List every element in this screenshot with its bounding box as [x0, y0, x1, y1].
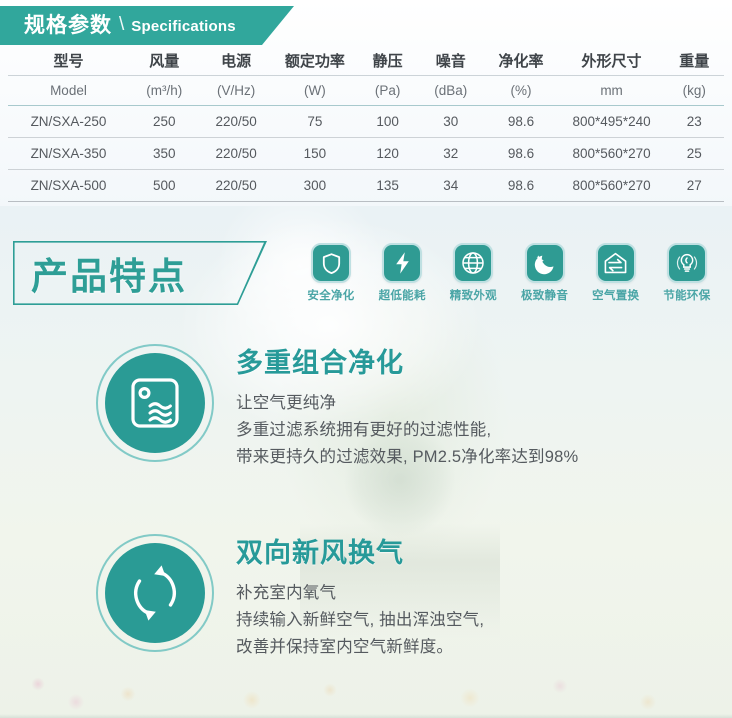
mini-features-strip: 安全净化 超低能耗 精致外观: [302, 243, 716, 305]
cell-purification-rate: 98.6: [483, 138, 558, 170]
cell-rated-power: 150: [273, 138, 357, 170]
feature-line: 补充室内氧气: [236, 580, 484, 607]
cell-dimensions: 800*495*240: [559, 106, 665, 138]
header-unit-5: (dBa): [418, 76, 483, 106]
header-cn-1: 风量: [129, 45, 200, 76]
table-row: ZN/SXA-250 250 220/50 75 100 30 98.6 800…: [8, 106, 724, 138]
specifications-table: 型号 风量 电源 额定功率 静压 噪音 净化率 外形尺寸 重量 Model (m…: [8, 45, 724, 202]
feature-icon-wrap: [96, 534, 214, 652]
mini-feature-energy-saving[interactable]: 节能环保: [658, 243, 716, 305]
cell-dimensions: 800*560*270: [559, 138, 665, 170]
feature-line: 带来更持久的过滤效果, PM2.5净化率达到98%: [236, 444, 578, 471]
cell-noise: 30: [418, 106, 483, 138]
table-row: ZN/SXA-350 350 220/50 150 120 32 98.6 80…: [8, 138, 724, 170]
house-exchange-icon: [596, 243, 636, 283]
cell-weight: 23: [664, 106, 724, 138]
product-features-heading: 产品特点: [13, 241, 267, 305]
cell-model: ZN/SXA-350: [8, 138, 129, 170]
feature-line: 让空气更纯净: [236, 390, 578, 417]
circular-exchange-arrows-icon: [105, 543, 205, 643]
specifications-banner: 规格参数 \ Specifications: [0, 6, 294, 45]
mini-feature-safe-purification[interactable]: 安全净化: [302, 243, 360, 305]
feature-line: 改善并保持室内空气新鲜度。: [236, 634, 484, 661]
moon-stars-icon: [525, 243, 565, 283]
header-unit-7: mm: [559, 76, 665, 106]
header-cn-8: 重量: [664, 45, 724, 76]
cell-power: 220/50: [200, 138, 273, 170]
mini-feature-label: 节能环保: [663, 287, 710, 303]
cell-weight: 25: [664, 138, 724, 170]
header-unit-4: (Pa): [357, 76, 418, 106]
cell-rated-power: 75: [273, 106, 357, 138]
cell-power: 220/50: [200, 170, 273, 202]
mini-feature-label: 极致静音: [521, 287, 568, 303]
lightbulb-icon: [667, 243, 707, 283]
mini-feature-ultra-quiet[interactable]: 极致静音: [516, 243, 574, 305]
table-row: ZN/SXA-500 500 220/50 300 135 34 98.6 80…: [8, 170, 724, 202]
header-cn-0: 型号: [8, 45, 129, 76]
feature-title: 多重组合净化: [236, 348, 578, 378]
header-cn-4: 静压: [357, 45, 418, 76]
feature-description: 让空气更纯净 多重过滤系统拥有更好的过滤性能, 带来更持久的过滤效果, PM2.…: [236, 390, 578, 470]
product-spec-page: 规格参数 \ Specifications 型号 风量 电源 额定功率 静压 噪…: [0, 0, 732, 718]
cell-airflow: 500: [129, 170, 200, 202]
header-cn-3: 额定功率: [273, 45, 357, 76]
header-unit-0: Model: [8, 76, 129, 106]
header-unit-6: (%): [483, 76, 558, 106]
header-unit-8: (kg): [664, 76, 724, 106]
globe-icon: [453, 243, 493, 283]
cell-weight: 27: [664, 170, 724, 202]
cell-static-pressure: 135: [357, 170, 418, 202]
cell-static-pressure: 120: [357, 138, 418, 170]
cell-purification-rate: 98.6: [483, 170, 558, 202]
table-header-row-units: Model (m³/h) (V/Hz) (W) (Pa) (dBa) (%) m…: [8, 76, 724, 106]
header-unit-2: (V/Hz): [200, 76, 273, 106]
header-unit-3: (W): [273, 76, 357, 106]
cell-model: ZN/SXA-250: [8, 106, 129, 138]
banner-labels: 规格参数 \ Specifications: [24, 6, 236, 45]
header-cn-6: 净化率: [483, 45, 558, 76]
feature-text: 双向新风换气 补充室内氧气 持续输入新鲜空气, 抽出浑浊空气, 改善并保持室内空…: [236, 534, 484, 660]
product-features-title: 产品特点: [31, 241, 187, 305]
mini-feature-label: 空气置换: [592, 287, 639, 303]
feature-block-bidirectional-ventilation: 双向新风换气 补充室内氧气 持续输入新鲜空气, 抽出浑浊空气, 改善并保持室内空…: [96, 534, 484, 660]
shield-icon: [311, 243, 351, 283]
banner-title-cn: 规格参数: [24, 15, 112, 36]
page-bottom-edge: [0, 714, 732, 718]
feature-line: 多重过滤系统拥有更好的过滤性能,: [236, 417, 578, 444]
feature-line: 持续输入新鲜空气, 抽出浑浊空气,: [236, 607, 484, 634]
header-unit-1: (m³/h): [129, 76, 200, 106]
cell-airflow: 250: [129, 106, 200, 138]
feature-description: 补充室内氧气 持续输入新鲜空气, 抽出浑浊空气, 改善并保持室内空气新鲜度。: [236, 580, 484, 660]
banner-title-en: Specifications: [131, 19, 236, 34]
feature-icon-wrap: [96, 344, 214, 462]
mini-feature-low-energy[interactable]: 超低能耗: [373, 243, 431, 305]
cell-model: ZN/SXA-500: [8, 170, 129, 202]
mini-feature-label: 精致外观: [450, 287, 497, 303]
cell-rated-power: 300: [273, 170, 357, 202]
mini-feature-fine-appearance[interactable]: 精致外观: [444, 243, 502, 305]
feature-block-multi-stage-purification: 多重组合净化 让空气更纯净 多重过滤系统拥有更好的过滤性能, 带来更持久的过滤效…: [96, 344, 578, 470]
cell-noise: 32: [418, 138, 483, 170]
mini-feature-air-exchange[interactable]: 空气置换: [587, 243, 645, 305]
feature-text: 多重组合净化 让空气更纯净 多重过滤系统拥有更好的过滤性能, 带来更持久的过滤效…: [236, 344, 578, 470]
banner-separator: \: [119, 14, 124, 36]
cell-power: 220/50: [200, 106, 273, 138]
header-cn-7: 外形尺寸: [559, 45, 665, 76]
cell-dimensions: 800*560*270: [559, 170, 665, 202]
mini-feature-label: 超低能耗: [379, 287, 426, 303]
header-cn-5: 噪音: [418, 45, 483, 76]
cell-airflow: 350: [129, 138, 200, 170]
table-header-row-cn: 型号 风量 电源 额定功率 静压 噪音 净化率 外形尺寸 重量: [8, 45, 724, 76]
cell-static-pressure: 100: [357, 106, 418, 138]
feature-title: 双向新风换气: [236, 538, 484, 568]
lightning-bolt-icon: [382, 243, 422, 283]
filter-airflow-icon: [105, 353, 205, 453]
cell-noise: 34: [418, 170, 483, 202]
header-cn-2: 电源: [200, 45, 273, 76]
mini-feature-label: 安全净化: [307, 287, 354, 303]
cell-purification-rate: 98.6: [483, 106, 558, 138]
